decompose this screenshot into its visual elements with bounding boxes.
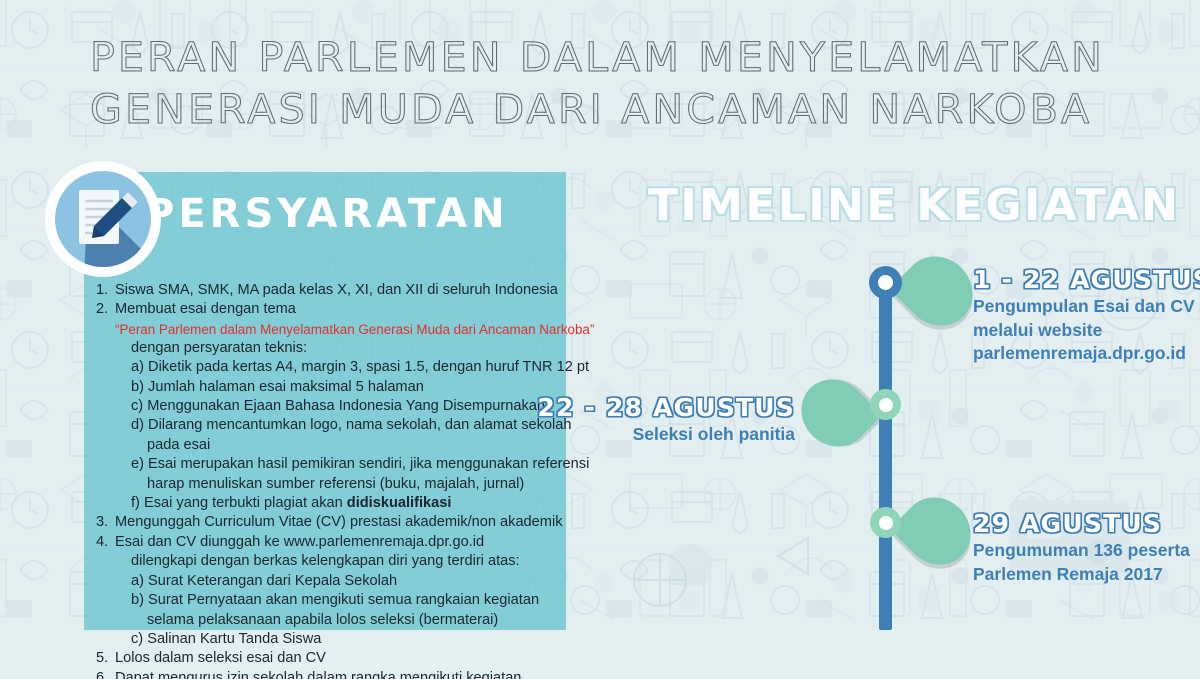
persyaratan-list-item: c) Salinan Kartu Tanda Siswa — [96, 630, 566, 649]
timeline-heading: TIMELINE KEGIATAN — [648, 180, 1180, 231]
timeline-axis — [879, 275, 892, 630]
timeline-entry-1: 1 - 22 AGUSTUS Pengumpulan Esai dan CV m… — [973, 265, 1200, 365]
persyaratan-item-number — [96, 630, 115, 649]
persyaratan-list-item: 2.Membuat esai dengan tema — [96, 300, 566, 319]
persyaratan-item-number — [96, 475, 115, 494]
page-title: PERAN PARLEMEN DALAM MENYELAMATKAN GENER… — [90, 32, 1130, 136]
persyaratan-list-item: a) Diketik pada kertas A4, margin 3, spa… — [96, 358, 566, 377]
persyaratan-item-number — [96, 397, 115, 416]
persyaratan-heading-wrap: PERSYARATAN — [145, 183, 509, 245]
timeline-dot-1 — [869, 266, 902, 299]
persyaratan-list-item: 4.Esai dan CV diunggah ke www.parlemenre… — [96, 533, 566, 552]
timeline-dot-2 — [870, 389, 901, 420]
persyaratan-item-emphasis: didiskualifikasi — [347, 495, 452, 511]
persyaratan-item-text: selama pelaksanaan apabila lolos seleksi… — [115, 611, 566, 630]
persyaratan-item-number — [96, 378, 115, 397]
persyaratan-heading: PERSYARATAN — [145, 192, 509, 236]
persyaratan-item-text: Mengunggah Curriculum Vitae (CV) prestas… — [115, 513, 566, 532]
timeline-marker-drop-3 — [902, 499, 972, 563]
page-title-line-1: PERAN PARLEMEN DALAM MENYELAMATKAN — [90, 32, 1161, 84]
persyaratan-list-item: 6.Dapat mengurus izin sekolah dalam rang… — [96, 669, 566, 679]
timeline-desc-1-line-2: melalui website — [973, 320, 1200, 342]
persyaratan-item-number — [96, 572, 115, 591]
persyaratan-list: 1.Siswa SMA, SMK, MA pada kelas X, XI, d… — [96, 281, 566, 679]
timeline-desc-3-line-2: Parlemen Remaja 2017 — [973, 564, 1190, 586]
persyaratan-item-text: a) Surat Keterangan dari Kepala Sekolah — [115, 572, 566, 591]
persyaratan-item-text: a) Diketik pada kertas A4, margin 3, spa… — [115, 358, 589, 377]
persyaratan-item-number — [96, 552, 115, 571]
timeline-marker-drop-1 — [902, 258, 974, 324]
persyaratan-item-text: Esai dan CV diunggah ke www.parlemenrema… — [115, 533, 566, 552]
persyaratan-item-number — [96, 416, 115, 435]
persyaratan-item-text: harap menuliskan sumber referensi (buku,… — [115, 475, 566, 494]
persyaratan-item-text: c) Salinan Kartu Tanda Siswa — [115, 630, 566, 649]
persyaratan-list-item: b) Surat Pernyataan akan mengikuti semua… — [96, 591, 566, 610]
persyaratan-item-number — [96, 455, 115, 474]
persyaratan-list-item: b) Jumlah halaman esai maksimal 5 halama… — [96, 378, 566, 397]
timeline-marker-drop-2 — [800, 381, 870, 445]
persyaratan-list-item: selama pelaksanaan apabila lolos seleksi… — [96, 611, 566, 630]
persyaratan-item-text: b) Surat Pernyataan akan mengikuti semua… — [115, 591, 566, 610]
persyaratan-item-text: b) Jumlah halaman esai maksimal 5 halama… — [115, 378, 566, 397]
persyaratan-item-text: f) Esai yang terbukti plagiat akan didis… — [115, 494, 566, 513]
persyaratan-list-item: harap menuliskan sumber referensi (buku,… — [96, 475, 566, 494]
persyaratan-list-item: “Peran Parlemen dalam Menyelamatkan Gene… — [96, 320, 566, 339]
timeline-desc-1-line-1: Pengumpulan Esai dan CV — [973, 296, 1200, 318]
persyaratan-item-text: Membuat esai dengan tema — [115, 300, 566, 319]
persyaratan-item-text: Lolos dalam seleksi esai dan CV — [115, 649, 566, 668]
page-title-line-2: GENERASI MUDA DARI ANCAMAN NARKOBA — [90, 84, 1161, 136]
persyaratan-item-number: 2. — [96, 300, 115, 319]
persyaratan-item-number: 3. — [96, 513, 115, 532]
persyaratan-item-number — [96, 358, 115, 377]
persyaratan-list-item: a) Surat Keterangan dari Kepala Sekolah — [96, 572, 566, 591]
timeline-dot-3 — [870, 507, 901, 538]
timeline-entry-2: 22 - 28 AGUSTUS Seleksi oleh panitia — [500, 393, 795, 446]
persyaratan-list-item: dilengkapi dengan berkas kelengkapan dir… — [96, 552, 566, 571]
persyaratan-item-text: dilengkapi dengan berkas kelengkapan dir… — [115, 552, 566, 571]
persyaratan-item-number — [96, 320, 115, 339]
timeline-entry-3: 29 AGUSTUS Pengumuman 136 peserta Parlem… — [973, 509, 1190, 585]
persyaratan-item-number: 5. — [96, 649, 115, 668]
persyaratan-item-number: 4. — [96, 533, 115, 552]
persyaratan-item-number — [96, 436, 115, 455]
timeline-desc-3-line-1: Pengumuman 136 peserta — [973, 540, 1190, 562]
document-pen-icon — [44, 160, 162, 278]
persyaratan-list-item: d) Dilarang mencantumkan logo, nama seko… — [96, 416, 566, 435]
timeline-date-3: 29 AGUSTUS — [973, 509, 1190, 538]
timeline-desc-2-line-1: Seleksi oleh panitia — [500, 424, 795, 446]
persyaratan-item-text: Dapat mengurus izin sekolah dalam rangka… — [115, 669, 566, 679]
persyaratan-item-text: Siswa SMA, SMK, MA pada kelas X, XI, dan… — [115, 281, 566, 300]
persyaratan-item-text: pada esai — [115, 436, 566, 455]
timeline-desc-1-line-3: parlemenremaja.dpr.go.id — [973, 343, 1200, 365]
persyaratan-list-item: 3.Mengunggah Curriculum Vitae (CV) prest… — [96, 513, 566, 532]
persyaratan-item-number: 1. — [96, 281, 115, 300]
timeline-date-1: 1 - 22 AGUSTUS — [973, 265, 1200, 294]
persyaratan-list-item: pada esai — [96, 436, 566, 455]
persyaratan-item-text: dengan persyaratan teknis: — [115, 339, 566, 358]
persyaratan-list-item: e) Esai merupakan hasil pemikiran sendir… — [96, 455, 566, 474]
persyaratan-list-item: dengan persyaratan teknis: — [96, 339, 566, 358]
persyaratan-item-text: c) Menggunakan Ejaan Bahasa Indonesia Ya… — [115, 397, 566, 416]
timeline-date-2: 22 - 28 AGUSTUS — [500, 393, 795, 422]
persyaratan-item-number — [96, 494, 115, 513]
persyaratan-item-number: 6. — [96, 669, 115, 679]
persyaratan-item-number — [96, 591, 115, 610]
persyaratan-item-text: e) Esai merupakan hasil pemikiran sendir… — [115, 455, 589, 474]
persyaratan-list-item: f) Esai yang terbukti plagiat akan didis… — [96, 494, 566, 513]
persyaratan-list-item: 5.Lolos dalam seleksi esai dan CV — [96, 649, 566, 668]
persyaratan-item-text: “Peran Parlemen dalam Menyelamatkan Gene… — [115, 320, 594, 339]
persyaratan-list-item: 1.Siswa SMA, SMK, MA pada kelas X, XI, d… — [96, 281, 566, 300]
persyaratan-item-number — [96, 339, 115, 358]
persyaratan-list-item: c) Menggunakan Ejaan Bahasa Indonesia Ya… — [96, 397, 566, 416]
persyaratan-item-number — [96, 611, 115, 630]
